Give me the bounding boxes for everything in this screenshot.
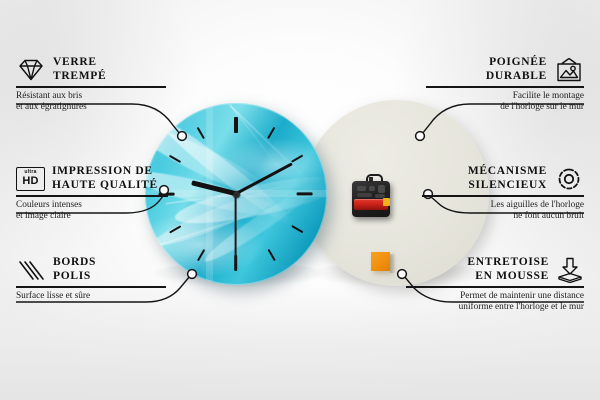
callout-desc-line2: et aux égratignures	[16, 102, 166, 113]
callout-mecanisme-silencieux[interactable]: MÉCANISME SILENCIEUX Les aiguilles de l'…	[422, 165, 584, 223]
callout-header: ENTRETOISE EN MOUSSE	[406, 256, 584, 283]
callout-desc-line2: et image claire	[16, 211, 168, 222]
callout-rule	[16, 286, 166, 288]
foam-spacer	[371, 252, 390, 271]
clock-face	[145, 103, 327, 285]
callout-title: IMPRESSION DE HAUTE QUALITÉ	[52, 165, 158, 192]
callout-rule	[16, 195, 168, 197]
callout-desc-line1: Les aiguilles de l'horloge	[422, 200, 584, 211]
foam-spacer-side	[390, 254, 395, 273]
callout-header: ultra HD IMPRESSION DE HAUTE QUALITÉ	[16, 165, 168, 192]
callout-desc-line2: uniforme entre l'horloge et le mur	[406, 302, 584, 313]
foam-spacer-icon	[556, 257, 584, 283]
ultra-hd-badge-icon: ultra HD	[16, 167, 45, 191]
clock-rim	[145, 103, 327, 285]
callout-title: BORDS POLIS	[53, 256, 96, 283]
callout-desc-line1: Couleurs intenses	[16, 200, 168, 211]
callout-entretoise-en-mousse[interactable]: ENTRETOISE EN MOUSSE Permet de maintenir…	[406, 256, 584, 314]
infographic-canvas: VERRE TREMPÉ Résistant aux bris et aux é…	[0, 0, 600, 400]
callout-desc-line1: Surface lisse et sûre	[16, 291, 166, 302]
polished-edges-icon	[16, 258, 46, 282]
callout-title: ENTRETOISE EN MOUSSE	[467, 256, 549, 283]
callout-rule	[426, 86, 584, 88]
callout-desc-line2: de l'horloge sur le mur	[426, 102, 584, 113]
callout-desc-line1: Facilite le montage	[426, 91, 584, 102]
callout-header: POIGNÉE DURABLE	[426, 56, 584, 83]
callout-title: POIGNÉE DURABLE	[486, 56, 547, 83]
callout-rule	[406, 286, 584, 288]
callout-title: MÉCANISME SILENCIEUX	[468, 165, 547, 192]
callout-header: BORDS POLIS	[16, 256, 166, 283]
movement-shaft	[369, 177, 373, 183]
callout-title: VERRE TREMPÉ	[53, 56, 106, 83]
gear-icon	[554, 166, 584, 192]
callout-desc-line1: Résistant aux bris	[16, 91, 166, 102]
callout-verre-trempe[interactable]: VERRE TREMPÉ Résistant aux bris et aux é…	[16, 56, 166, 114]
callout-impression-haute-qualite[interactable]: ultra HD IMPRESSION DE HAUTE QUALITÉ Cou…	[16, 165, 168, 223]
callout-header: MÉCANISME SILENCIEUX	[422, 165, 584, 192]
callout-desc-line1: Permet de maintenir une distance	[406, 291, 584, 302]
callout-poignee-durable[interactable]: POIGNÉE DURABLE Facilite le montage de l…	[426, 56, 584, 114]
callout-header: VERRE TREMPÉ	[16, 56, 166, 83]
battery-plus-terminal	[383, 198, 390, 206]
callout-rule	[16, 86, 166, 88]
callout-rule	[422, 195, 584, 197]
badge-hd-label: HD	[22, 176, 38, 187]
callout-desc-line2: ne font aucun bruit	[422, 211, 584, 222]
diamond-icon	[16, 58, 46, 82]
callout-bords-polis[interactable]: BORDS POLIS Surface lisse et sûre	[16, 256, 166, 302]
picture-hanger-icon	[554, 57, 584, 83]
